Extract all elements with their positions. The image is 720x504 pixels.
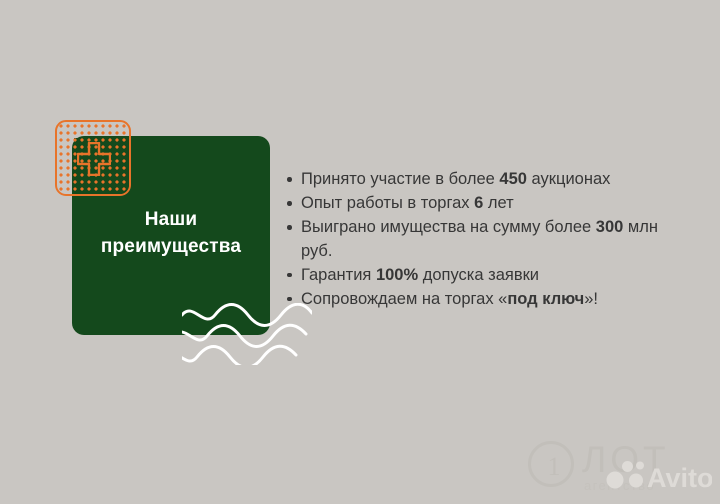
bullet-marker <box>287 273 292 278</box>
list-item: Принято участие в более 450 аукционах <box>286 168 682 192</box>
avito-watermark: Avito <box>606 458 712 494</box>
list-item-text: Опыт работы в торгах 6 лет <box>301 194 514 212</box>
plus-icon <box>77 142 111 176</box>
plus-badge <box>55 120 131 196</box>
poster-canvas: Наши преимущества Принято участие в боле… <box>0 0 720 504</box>
lot-word: ЛОТ <box>582 439 670 481</box>
list-item-text: Принято участие в более 450 аукционах <box>301 170 610 188</box>
lot-brand-watermark: 1 ЛОТ агентство <box>528 436 678 494</box>
bullet-marker <box>287 177 292 182</box>
lot-circle-icon: 1 <box>528 441 574 487</box>
bullet-marker <box>287 201 292 206</box>
advantages-list: Принято участие в более 450 аукционах Оп… <box>286 168 682 312</box>
card-title: Наши преимущества <box>72 206 270 260</box>
list-item: Гарантия 100% допуска заявки <box>286 264 682 288</box>
bullet-marker <box>287 297 292 302</box>
list-item: Сопровождаем на торгах «под ключ»! <box>286 288 682 312</box>
list-item-text: Гарантия 100% допуска заявки <box>301 266 539 284</box>
list-item-text: Сопровождаем на торгах «под ключ»! <box>301 290 598 308</box>
lot-digit: 1 <box>531 452 577 482</box>
list-item: Опыт работы в торгах 6 лет <box>286 192 682 216</box>
avito-logo-dots <box>607 461 645 489</box>
list-item: Выиграно имущества на сумму более 300 мл… <box>286 216 682 263</box>
list-item-text: Выиграно имущества на сумму более 300 мл… <box>301 218 658 260</box>
bullet-marker <box>287 225 292 230</box>
svg-text:Avito: Avito <box>647 463 712 493</box>
lot-subtitle: агентство <box>584 478 655 493</box>
